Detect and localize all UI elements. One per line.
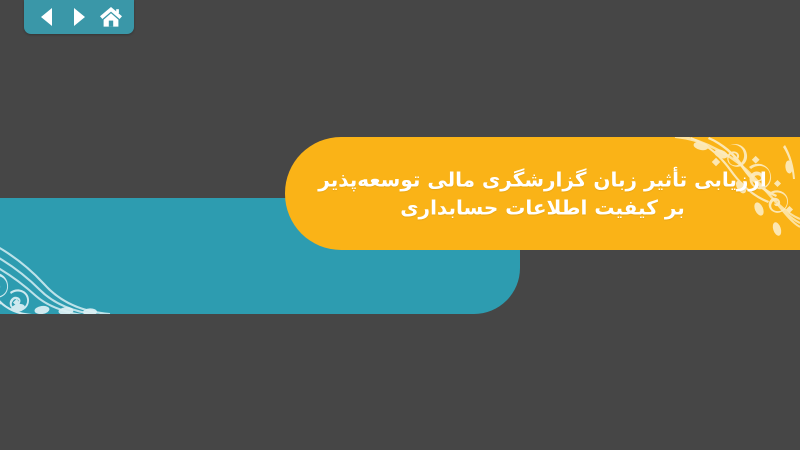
home-button[interactable] — [97, 4, 125, 30]
title-line-1: ارزیابی تأثیر زبان گزارشگری مالی توسعه‌پ… — [303, 165, 782, 193]
slide-title-panel: ارزیابی تأثیر زبان گزارشگری مالی توسعه‌پ… — [285, 137, 800, 250]
next-slide-button[interactable] — [65, 4, 93, 30]
presentation-slide: ارزیابی تأثیر زبان گزارشگری مالی توسعه‌پ… — [0, 0, 800, 450]
slide-title: ارزیابی تأثیر زبان گزارشگری مالی توسعه‌پ… — [285, 165, 800, 222]
slide-navigation-toolbar — [24, 0, 134, 34]
triangle-right-icon — [72, 7, 87, 27]
triangle-left-icon — [39, 7, 56, 27]
arabesque-ornament-teal — [0, 198, 170, 314]
home-icon — [99, 6, 123, 28]
title-line-2: بر کیفیت اطلاعات حسابداری — [303, 194, 782, 222]
previous-slide-button[interactable] — [33, 4, 61, 30]
